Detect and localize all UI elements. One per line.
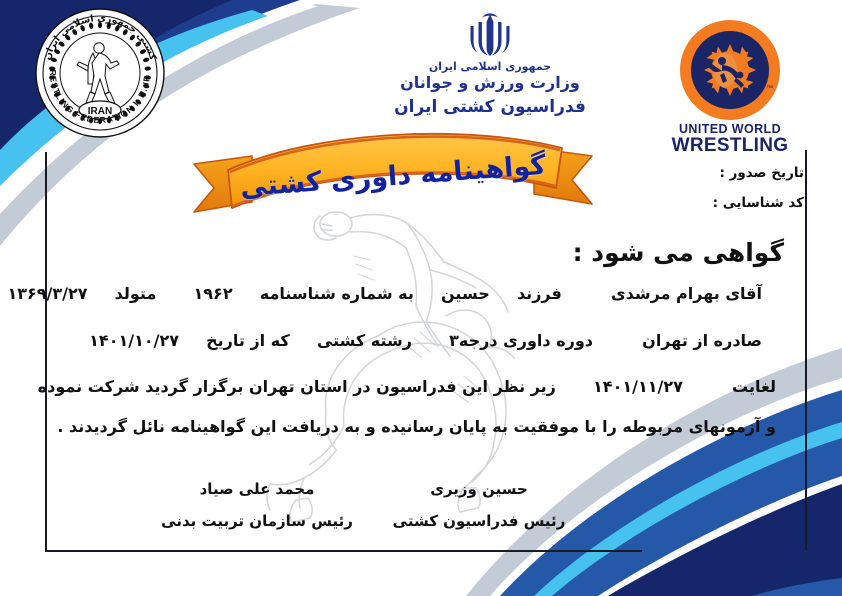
body-line-4: و آزمونهای مربوطه را با موفقیت به پایان …: [57, 419, 776, 435]
birth-label: متولد: [115, 284, 157, 303]
federation-name: فدراسیون کشتی ایران: [330, 98, 650, 118]
discipline-name: رشته کشتی: [317, 331, 412, 350]
id-number-value: ۱۹۶۲: [194, 284, 233, 303]
uww-logo-block: ™ UNITED WORLD WRESTLING: [660, 18, 800, 156]
wrestling-federation-seal-icon: IRAN کشتی جمهوری اسلامی ایران WRESTLING …: [33, 6, 167, 140]
meta-fields: تاریخ صدور : کد شناسایی :: [674, 167, 804, 226]
course-name: دوره داوری درجه۳: [449, 331, 593, 350]
signature-left-role: رئیس سازمان تربیت بدنی: [152, 514, 362, 529]
certify-heading: گواهی می شود :: [573, 238, 784, 267]
ministry-line-2: وزارت ورزش و جوانان: [330, 74, 650, 92]
certificate-page: IRAN کشتی جمهوری اسلامی ایران WRESTLING …: [0, 0, 842, 596]
id-code-label: کد شناسایی :: [674, 197, 804, 211]
signature-federation-president: حسین وزیری رئیس فدراسیون کشتی: [384, 482, 574, 529]
issued-from: صادره از تهران: [642, 331, 762, 350]
iran-national-emblem-icon: [460, 8, 520, 60]
honorific-name: آقای بهرام مرشدی: [611, 284, 762, 303]
body-line-3-text: زیر نظر این فدراسیون در استان تهران برگز…: [38, 377, 556, 396]
ministry-line-1: جمهوری اسلامی ایران: [330, 61, 650, 73]
until-date-value: ۱۴۰۱/۱۱/۲۷: [593, 377, 683, 396]
body-line-3: لغایت ۱۴۰۱/۱۱/۲۷ زیر نظر این فدراسیون در…: [38, 379, 776, 395]
svg-text:™: ™: [766, 85, 773, 92]
signature-right-role: رئیس فدراسیون کشتی: [384, 514, 574, 529]
until-label: لغایت: [732, 377, 776, 396]
birth-date: ۱۳۶۹/۳/۲۷: [7, 284, 87, 303]
header-center: جمهوری اسلامی ایران وزارت ورزش و جوانان …: [330, 8, 650, 118]
from-date-value: ۱۴۰۱/۱۰/۲۷: [89, 331, 179, 350]
uww-line-2: WRESTLING: [660, 136, 800, 156]
issue-date-label: تاریخ صدور :: [674, 167, 804, 181]
signature-left-name: محمد علی صیاد: [152, 482, 362, 497]
body-line-2: صادره از تهران دوره داوری درجه۳ رشته کشت…: [89, 333, 762, 349]
father-label: فرزند: [517, 284, 562, 303]
united-world-wrestling-logo-icon: ™: [678, 18, 782, 122]
frame-line-bottom: [45, 550, 642, 552]
father-name: حسین: [441, 284, 490, 303]
from-date-label: که از تاریخ: [206, 331, 290, 350]
id-number-label: به شماره شناسنامه: [260, 284, 414, 303]
signature-right-name: حسین وزیری: [384, 482, 574, 497]
wrestlers-grappling-watermark-icon: [258, 196, 588, 526]
frame-line-right: [805, 150, 807, 550]
frame-line-left: [45, 152, 47, 552]
body-line-1: آقای بهرام مرشدی فرزند حسین به شماره شنا…: [7, 286, 762, 302]
signature-physical-education-head: محمد علی صیاد رئیس سازمان تربیت بدنی: [152, 482, 362, 529]
